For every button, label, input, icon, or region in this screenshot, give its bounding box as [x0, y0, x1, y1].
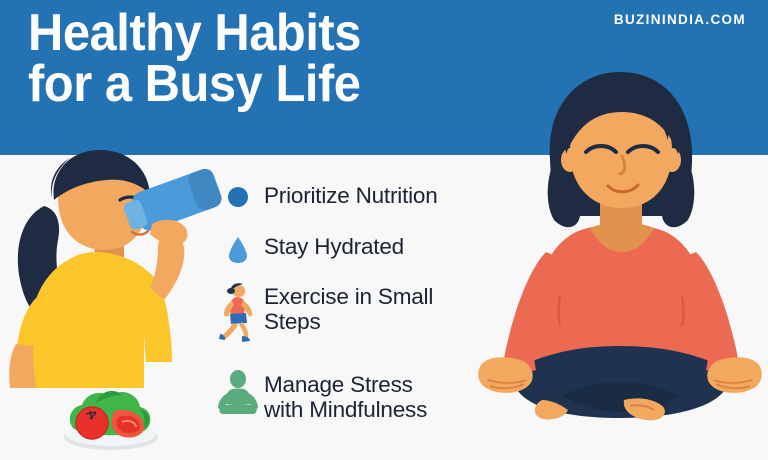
list-item-label: Stay Hydrated	[258, 232, 404, 259]
meditating-person-icon	[218, 370, 258, 416]
page-title: Healthy Habits for a Busy Life	[28, 8, 361, 110]
list-item[interactable]: Exercise in Small Steps	[218, 282, 433, 344]
list-item-label: Prioritize Nutrition	[258, 182, 438, 208]
running-person-icon	[218, 282, 258, 344]
list-item-label: Manage Stress with Mindfulness	[258, 370, 427, 423]
list-item[interactable]: Manage Stress with Mindfulness	[218, 370, 427, 423]
blue-circle-icon	[218, 182, 258, 208]
illustration-woman-meditating	[472, 56, 768, 456]
brand-watermark: BUZININDIA.COM	[614, 12, 746, 27]
list-item[interactable]: Stay Hydrated	[218, 232, 404, 264]
list-item-label: Exercise in Small Steps	[258, 282, 433, 335]
infographic-canvas: Healthy Habits for a Busy Life BUZININDI…	[0, 0, 768, 460]
water-droplet-icon	[218, 232, 258, 264]
illustration-woman-drinking-water	[0, 148, 226, 388]
list-item[interactable]: Prioritize Nutrition	[218, 182, 438, 208]
illustration-salad-plate	[56, 381, 166, 453]
